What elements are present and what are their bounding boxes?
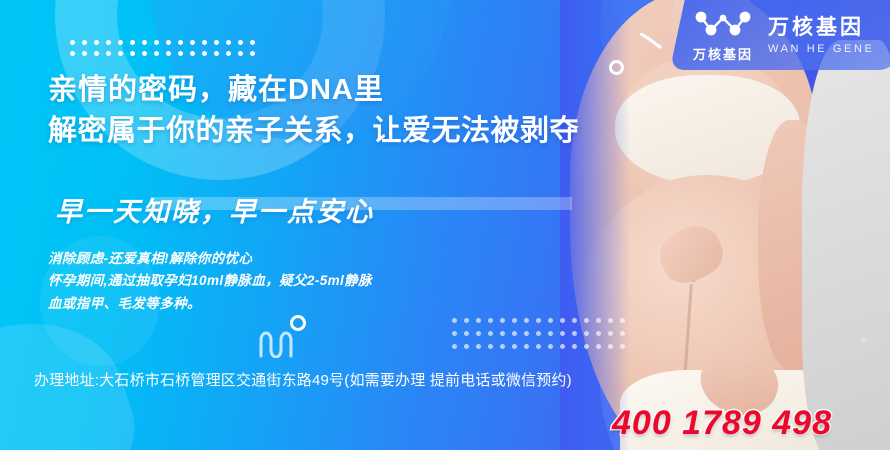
brand-name-en: WAN HE GENE (768, 43, 874, 55)
logo-text: 万核基因 WAN HE GENE (768, 16, 874, 54)
headline-line-1: 亲情的密码，藏在DNA里 (48, 70, 579, 111)
subheadline: 早一天知晓，早一点安心 (55, 190, 374, 229)
circle-outline-icon (290, 315, 306, 331)
molecule-icon (692, 8, 754, 42)
logo-mark: 万核基因 (692, 8, 754, 63)
brand-logo: 万核基因 万核基因 WAN HE GENE (692, 8, 874, 63)
headline-line-2: 解密属于你的亲子关系，让爱无法被剥夺 (48, 111, 579, 152)
body-copy-line-3: 血或指甲、毛发等多种。 (48, 293, 372, 315)
decorative-dot-grid-top (70, 40, 262, 62)
logo-mark-caption: 万核基因 (693, 44, 753, 63)
body-copy-line-2: 怀孕期间,通过抽取孕妇10ml静脉血，疑父2-5ml静脉 (48, 270, 372, 292)
address-line: 办理地址:大石桥市石桥管理区交通街东路49号(如需要办理 提前电话或微信预约) (34, 369, 572, 390)
body-copy: 消除顾虑-还爱真相!解除你的忧心 怀孕期间,通过抽取孕妇10ml静脉血，疑父2-… (48, 248, 372, 315)
body-copy-line-1: 消除顾虑-还爱真相!解除你的忧心 (48, 248, 372, 270)
brand-name-cn: 万核基因 (768, 16, 874, 40)
decorative-dot-grid-mid (452, 318, 632, 357)
phone-number[interactable]: 400 1789 498 (612, 404, 832, 443)
dna-wave-icon (258, 330, 298, 358)
headline: 亲情的密码，藏在DNA里 解密属于你的亲子关系，让爱无法被剥夺 (48, 70, 579, 152)
promo-banner: 万核基因 万核基因 WAN HE GENE 亲情的密码，藏在DNA里 解密属于你… (0, 0, 890, 450)
